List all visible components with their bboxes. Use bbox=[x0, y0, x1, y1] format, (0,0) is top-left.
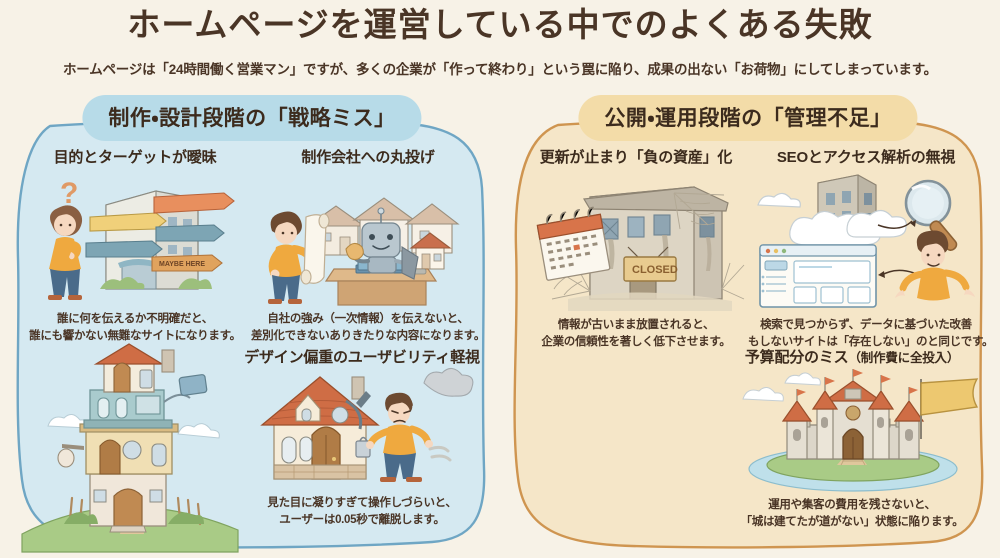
caption-line: 検索で見つからず、データに基づいた改善 bbox=[748, 317, 984, 334]
cell-title: 予算配分のミス（制作費に全投入） bbox=[718, 346, 986, 367]
art-abandoned-building-calendar-cobwebs: CLOSED bbox=[522, 169, 750, 315]
confused-person bbox=[48, 205, 82, 300]
caption-line: 誰にも響かない無難なサイトになります。 bbox=[20, 328, 250, 345]
caption-line: 企業の信頼性を著しく低下させます。 bbox=[522, 334, 750, 351]
caption-line: 自社の強み（一次情報）を伝えないと、 bbox=[250, 311, 486, 328]
closed-sign-label: CLOSED bbox=[632, 264, 678, 276]
infographic-canvas: ホームページを運営している中でのよくある失敗 ホームページは「24時間働く営業マ… bbox=[0, 0, 1000, 558]
cell-overbuilt-stacked-house bbox=[26, 348, 242, 538]
cell-caption: 運用や集客の費用を残さないと、 「城は建てたが道がない」状態に陥ります。 bbox=[718, 497, 986, 530]
angry-user bbox=[366, 393, 450, 482]
cell-caption: 誰に何を伝えるか不明確だと、 誰にも響かない無難なサイトになります。 bbox=[20, 311, 250, 344]
cell-title: SEOとアクセス解析の無視 bbox=[748, 146, 984, 167]
cell-title: 更新が止まり「負の資産」化 bbox=[522, 146, 750, 167]
signpost-label-maybe-here: MAYBE HERE bbox=[159, 261, 205, 268]
cell-vague-purpose-target: 目的とターゲットが曖昧 ? bbox=[20, 146, 250, 344]
caption-line: 情報が古いまま放置されると、 bbox=[522, 317, 750, 334]
art-person-handing-scroll-to-robot bbox=[250, 169, 486, 309]
caption-line: ユーザーは0.05秒で離脱します。 bbox=[238, 512, 486, 529]
fancy-cottage bbox=[262, 377, 378, 479]
person-with-scroll bbox=[268, 211, 329, 304]
cell-title-main: 予算配分のミス bbox=[745, 349, 849, 366]
art-castle-on-island-with-banner bbox=[718, 369, 986, 495]
clouds bbox=[743, 373, 820, 401]
cell-caption: 見た目に凝りすぎて操作しづらいと、 ユーザーは0.05秒で離脱します。 bbox=[238, 495, 486, 528]
cell-caption: 情報が古いまま放置されると、 企業の信頼性を著しく低下させます。 bbox=[522, 317, 750, 350]
cell-ignoring-seo-analytics: SEOとアクセス解析の無視 bbox=[748, 146, 984, 350]
frustration-cloud bbox=[424, 368, 473, 396]
cell-full-outsourcing: 制作会社への丸投げ bbox=[250, 146, 486, 344]
panel-creation-design-phase: 制作・設計段階の「戦略ミス」 目的とターゲットが曖昧 ? bbox=[12, 118, 492, 550]
page-subtitle: ホームページは「24時間働く営業マン」ですが、多くの企業が「作って終わり」という… bbox=[0, 58, 1000, 78]
caption-line: 見た目に凝りすぎて操作しづらいと、 bbox=[238, 495, 486, 512]
caption-line: 差別化できないありきたりな内容になります。 bbox=[250, 328, 486, 345]
cell-caption: 自社の強み（一次情報）を伝えないと、 差別化できないありきたりな内容になります。 bbox=[250, 311, 486, 344]
cell-design-over-usability: デザイン偏重のユーザビリティ軽視 bbox=[238, 346, 486, 528]
question-mark-glyph: ? bbox=[60, 177, 78, 210]
panel-publish-operation-phase: 公開・運用段階の「管理不足」 更新が止まり「負の資産」化 bbox=[506, 118, 990, 550]
art-stacked-crooked-house-on-hill bbox=[26, 348, 242, 538]
panel-badge-publish-operation: 公開・運用段階の「管理不足」 bbox=[578, 95, 917, 141]
art-building-in-clouds-magnifier-dashboard-shrug bbox=[748, 169, 984, 315]
cell-title: 目的とターゲットが曖昧 bbox=[20, 146, 250, 167]
page-title: ホームページを運営している中でのよくある失敗 bbox=[0, 6, 1000, 44]
art-fancy-cottage-locked-door-angry-user bbox=[238, 369, 486, 493]
cell-title-sub: （制作費に全投入） bbox=[848, 351, 959, 365]
cell-title: デザイン偏重のユーザビリティ軽視 bbox=[238, 346, 486, 367]
calendar bbox=[536, 206, 610, 280]
cell-budget-misallocation: 予算配分のミス（制作費に全投入） bbox=[718, 346, 986, 530]
cell-title: 制作会社への丸投げ bbox=[250, 146, 486, 167]
building-in-clouds bbox=[758, 175, 906, 245]
caption-line: 誰に何を伝えるか不明確だと、 bbox=[20, 311, 250, 328]
caption-line: 運用や集客の費用を残さないと、 bbox=[718, 497, 986, 514]
caption-line: 「城は建てたが道がない」状態に陥ります。 bbox=[718, 514, 986, 531]
analytics-dashboard-window bbox=[760, 245, 876, 307]
cell-stale-negative-asset: 更新が止まり「負の資産」化 bbox=[522, 146, 750, 350]
gold-banner bbox=[921, 379, 977, 439]
panel-badge-creation-design: 制作・設計段階の「戦略ミス」 bbox=[82, 95, 421, 141]
art-confused-person-signpost-building: ? bbox=[20, 169, 250, 309]
shrugging-person bbox=[895, 230, 975, 300]
